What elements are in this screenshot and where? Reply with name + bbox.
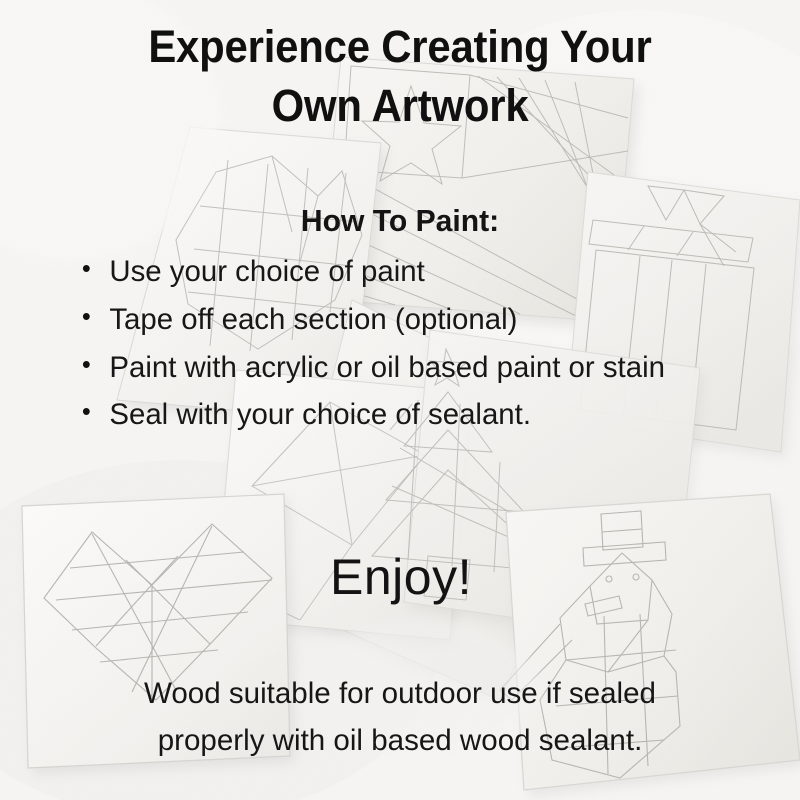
how-to-paint-heading: How To Paint: bbox=[12, 203, 788, 239]
list-item: Paint with acrylic or oil based paint or… bbox=[78, 345, 764, 392]
list-item: Seal with your choice of sealant. bbox=[78, 392, 764, 439]
how-to-paint-list: Use your choice of paint Tape off each s… bbox=[78, 249, 778, 440]
enjoy-text: Enjoy! bbox=[246, 548, 556, 606]
page-title-line-2: Own Artwork bbox=[28, 77, 772, 136]
footnote-line-2: properly with oil based wood sealant. bbox=[6, 717, 794, 764]
list-item: Tape off each section (optional) bbox=[78, 297, 764, 344]
footnote: Wood suitable for outdoor use if sealed … bbox=[6, 670, 794, 765]
page-title: Experience Creating Your Own Artwork bbox=[28, 18, 772, 135]
text-overlay: Experience Creating Your Own Artwork How… bbox=[0, 0, 800, 800]
footnote-line-1: Wood suitable for outdoor use if sealed bbox=[6, 670, 794, 717]
graphic-canvas: Experience Creating Your Own Artwork How… bbox=[0, 0, 800, 800]
list-item: Use your choice of paint bbox=[78, 249, 764, 296]
page-title-line-1: Experience Creating Your bbox=[28, 18, 772, 77]
